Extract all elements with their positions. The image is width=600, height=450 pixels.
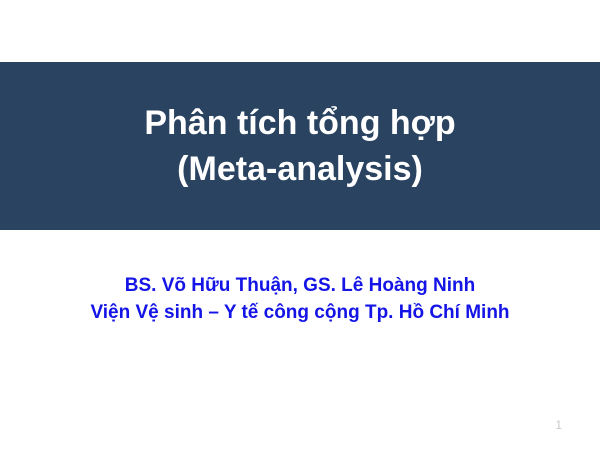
subtitle-authors: BS. Võ Hữu Thuận, GS. Lê Hoàng Ninh [0,272,600,299]
slide-page-number: 1 [555,418,562,432]
slide-title-line-2: (Meta-analysis) [177,146,423,192]
title-banner: Phân tích tổng hợp (Meta-analysis) [0,62,600,230]
subtitle-affiliation: Viện Vệ sinh – Y tế công cộng Tp. Hồ Chí… [0,299,600,326]
slide-title-line-1: Phân tích tổng hợp [144,100,455,146]
slide-subtitle: BS. Võ Hữu Thuận, GS. Lê Hoàng Ninh Viện… [0,272,600,326]
presentation-slide: Phân tích tổng hợp (Meta-analysis) BS. V… [0,0,600,450]
